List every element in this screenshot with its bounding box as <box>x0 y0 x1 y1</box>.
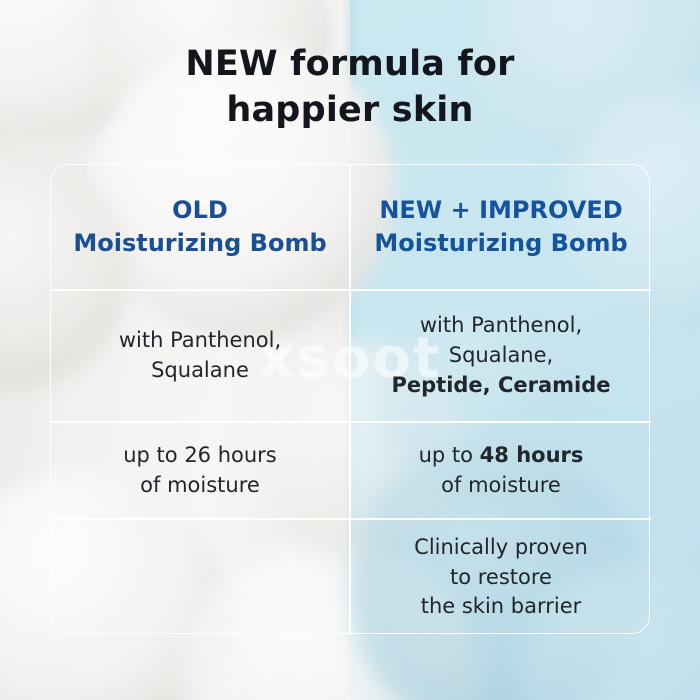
duration-old-value: 26 hours <box>184 443 276 467</box>
duration-old-line-1: up to 26 hours <box>123 441 277 471</box>
claim-new-line-3: the skin barrier <box>414 592 588 622</box>
ingredients-new-line-3: Peptide, Ceramide <box>391 371 610 401</box>
duration-new-value: 48 hours <box>480 443 584 467</box>
poster-canvas: xsoot NEW formula for happier skin OLD M… <box>0 0 700 700</box>
page-title-line-2: happier skin <box>0 88 700 134</box>
table-header-old: OLD Moisturizing Bomb <box>51 165 349 289</box>
table-header-new: NEW + IMPROVED Moisturizing Bomb <box>351 165 651 289</box>
cell-ingredients-old: with Panthenol, Squalane <box>51 291 349 421</box>
header-new-line-1: NEW + IMPROVED <box>374 194 627 227</box>
ingredients-old-line-2: Squalane <box>119 356 281 386</box>
header-new-line-2: Moisturizing Bomb <box>374 227 627 260</box>
page-title-line-1: NEW formula for <box>0 42 700 88</box>
cell-claim-old <box>51 520 349 635</box>
cell-ingredients-new: with Panthenol, Squalane, Peptide, Ceram… <box>351 291 651 421</box>
cell-claim-new: Clinically proven to restore the skin ba… <box>351 520 651 635</box>
cell-duration-old: up to 26 hours of moisture <box>51 423 349 518</box>
comparison-table: OLD Moisturizing Bomb NEW + IMPROVED Moi… <box>50 164 650 634</box>
claim-new-line-2: to restore <box>414 563 588 593</box>
ingredients-new-line-1: with Panthenol, <box>391 311 610 341</box>
duration-new-line-2: of moisture <box>419 471 584 501</box>
ingredients-old-line-1: with Panthenol, <box>119 326 281 356</box>
duration-old-line-2: of moisture <box>123 471 277 501</box>
ingredients-new-line-2: Squalane, <box>391 341 610 371</box>
claim-new-line-1: Clinically proven <box>414 533 588 563</box>
header-old-line-1: OLD <box>73 194 326 227</box>
cell-duration-new: up to 48 hours of moisture <box>351 423 651 518</box>
page-title: NEW formula for happier skin <box>0 42 700 133</box>
duration-new-line-1: up to 48 hours <box>419 441 584 471</box>
header-old-line-2: Moisturizing Bomb <box>73 227 326 260</box>
